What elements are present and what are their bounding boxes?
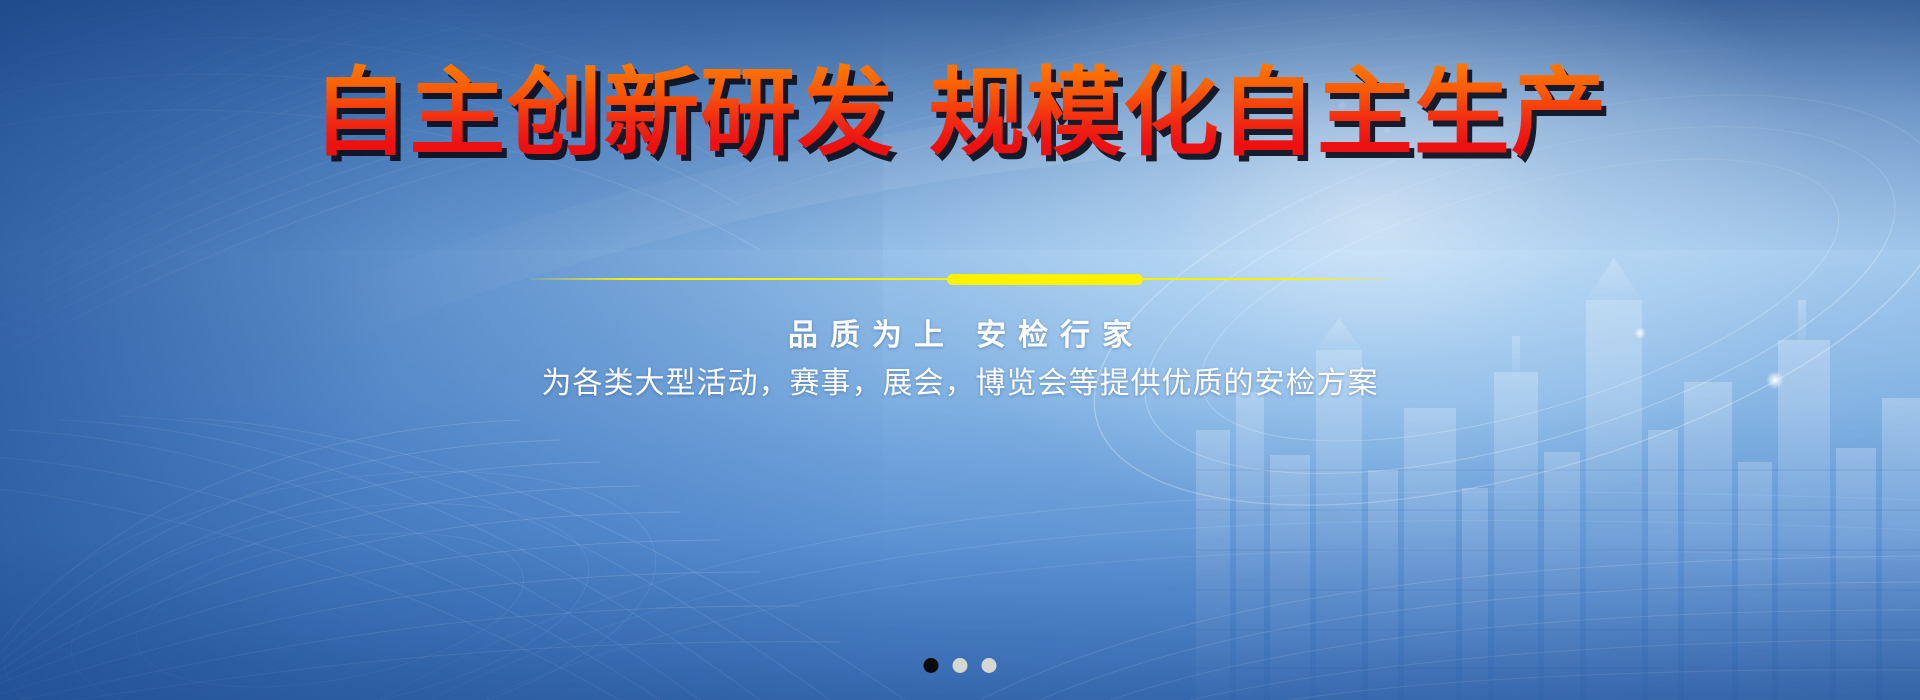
carousel-dot-2[interactable] [953, 658, 968, 673]
divider-thick-segment [947, 274, 1143, 285]
carousel-dot-1[interactable] [924, 658, 939, 673]
banner-slogan: 品质为上 安检行家 [776, 310, 1144, 354]
carousel-dots[interactable] [924, 658, 997, 673]
carousel-dot-3[interactable] [982, 658, 997, 673]
yellow-divider [530, 272, 1390, 286]
hero-banner: 自主创新研发 规模化自主生产 品质为上 安检行家 为各类大型活动，赛事，展会，博… [0, 0, 1920, 700]
banner-headline: 自主创新研发 规模化自主生产 [312, 62, 1607, 166]
banner-tagline: 为各类大型活动，赛事，展会，博览会等提供优质的安检方案 [542, 358, 1379, 402]
banner-content: 自主创新研发 规模化自主生产 品质为上 安检行家 为各类大型活动，赛事，展会，博… [0, 0, 1920, 700]
